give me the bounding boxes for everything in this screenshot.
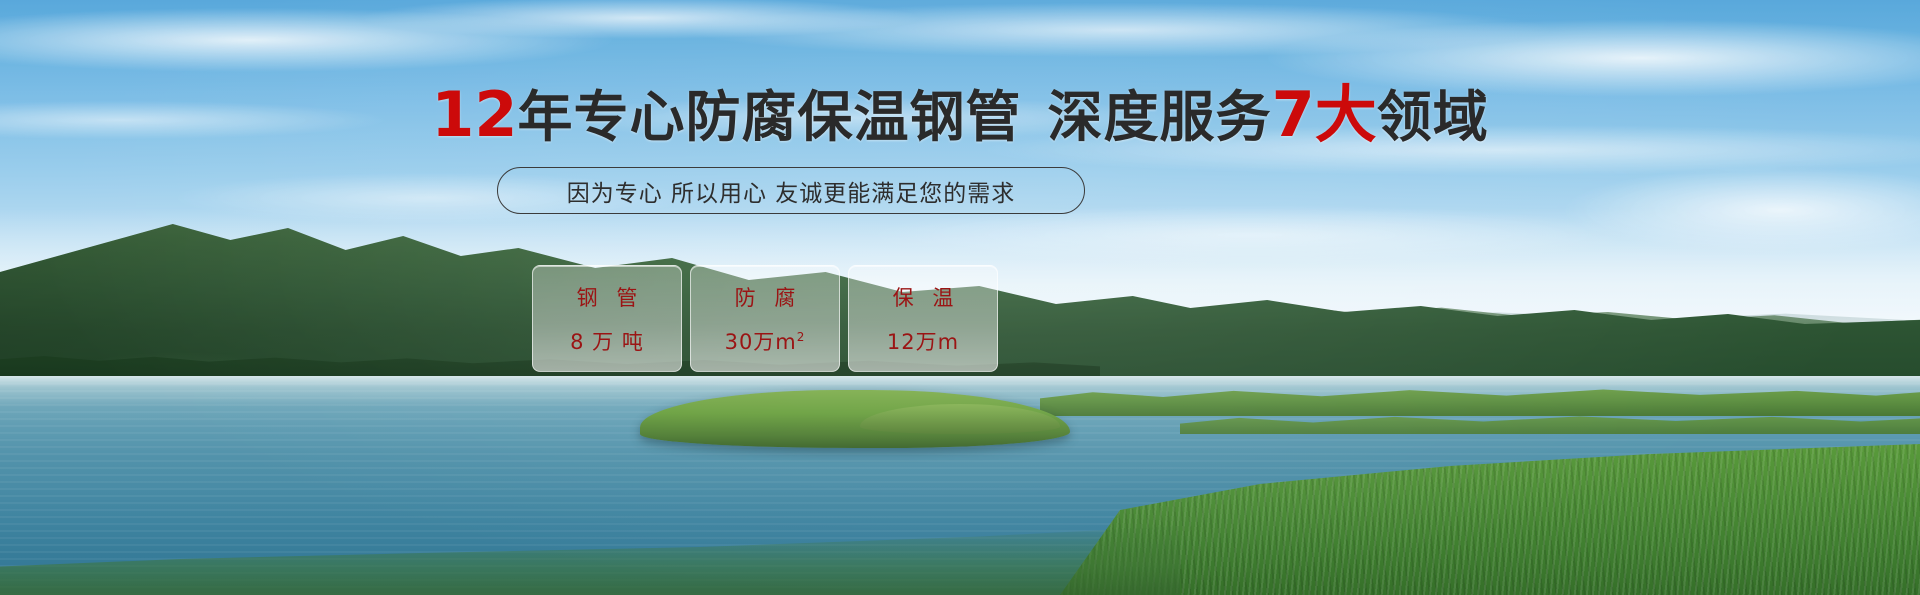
stat-value-text: 8 万 吨 xyxy=(570,330,644,354)
headline-fields-number: 7 xyxy=(1272,78,1315,151)
subtitle-text: 因为专心 所以用心 友诚更能满足您的需求 xyxy=(567,174,1016,208)
hero-banner: 12年专心防腐保温钢管深度服务7大领域 因为专心 所以用心 友诚更能满足您的需求… xyxy=(0,0,1920,595)
stat-card-insulation: 保 温 12万m xyxy=(848,265,998,372)
stat-value: 30万m2 xyxy=(725,326,806,356)
stat-value-text: 12万m xyxy=(887,330,959,354)
stat-value: 12万m xyxy=(887,326,959,356)
stat-value-superscript: 2 xyxy=(797,330,806,344)
stat-card-anticorrosion: 防 腐 30万m2 xyxy=(690,265,840,372)
stat-value: 8 万 吨 xyxy=(570,326,644,356)
headline-text-secondary: 深度服务 xyxy=(1048,85,1272,149)
banner-content: 12年专心防腐保温钢管深度服务7大领域 因为专心 所以用心 友诚更能满足您的需求… xyxy=(0,0,1920,595)
headline-text-primary: 年专心防腐保温钢管 xyxy=(518,85,1022,149)
stat-label: 防 腐 xyxy=(729,282,802,312)
stat-label: 保 温 xyxy=(887,282,960,312)
headline-fields-measure-word: 大 xyxy=(1315,78,1377,151)
headline-text-tertiary: 领域 xyxy=(1377,85,1489,149)
stat-value-text: 30万m xyxy=(725,330,797,354)
stat-card-steel-pipe: 钢 管 8 万 吨 xyxy=(532,265,682,372)
subtitle-pill: 因为专心 所以用心 友诚更能满足您的需求 xyxy=(497,167,1085,214)
stats-group: 钢 管 8 万 吨 防 腐 30万m2 保 温 12万m xyxy=(532,265,998,372)
banner-headline: 12年专心防腐保温钢管深度服务7大领域 xyxy=(0,84,1920,148)
headline-years-number: 12 xyxy=(431,78,517,151)
stat-label: 钢 管 xyxy=(571,282,644,312)
